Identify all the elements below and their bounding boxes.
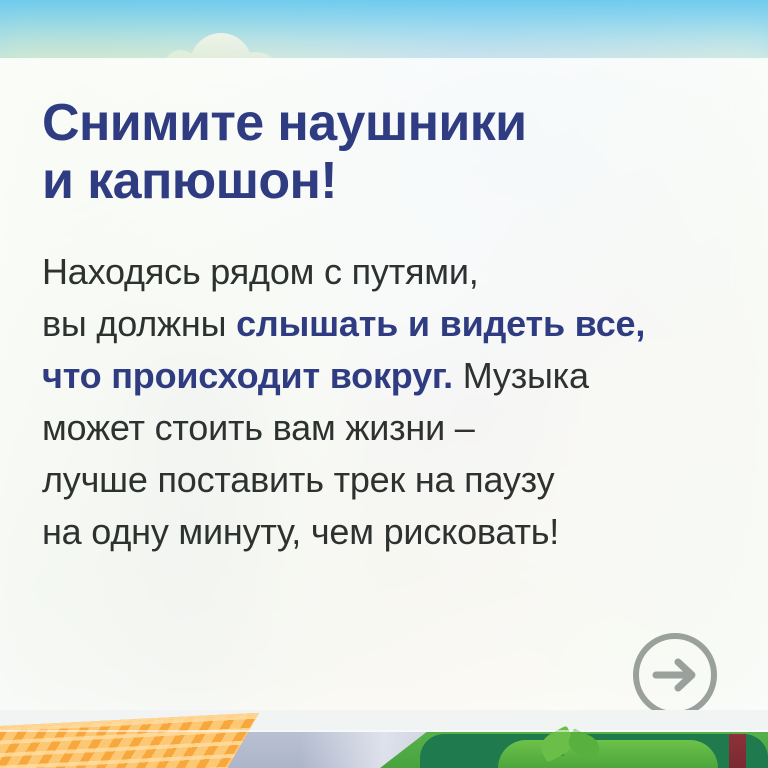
tactile-paving-ridges <box>0 715 258 768</box>
body-line-3-accent: что происходит вокруг. <box>42 355 453 396</box>
body-line-3-plain: Музыка <box>453 355 589 396</box>
body-line-3: что происходит вокруг. Музыка <box>42 350 732 402</box>
arrow-right-circle-icon <box>631 631 719 719</box>
body-paragraph: Находясь рядом с путями, вы должны слыша… <box>42 210 732 557</box>
red-post <box>729 734 746 768</box>
safety-poster-slide: Снимите наушники и капюшон! Находясь ряд… <box>0 0 768 768</box>
body-line-2-plain: вы должны <box>42 303 236 344</box>
body-line-5: лучше поставить трек на паузу <box>42 454 732 506</box>
body-line-4-text: может стоить вам жизни – <box>42 407 475 448</box>
bush-light-icon <box>498 740 718 768</box>
body-line-4: может стоить вам жизни – <box>42 402 732 454</box>
bottom-scene-strip <box>0 710 768 768</box>
body-line-6: на одну минуту, чем рисковать! <box>42 506 732 558</box>
tactile-paving-strip <box>0 713 259 768</box>
body-line-1: Находясь рядом с путями, <box>42 246 732 298</box>
body-line-2: вы должны слышать и видеть все, <box>42 298 732 350</box>
body-line-1-text: Находясь рядом с путями, <box>42 251 479 292</box>
page-title: Снимите наушники и капюшон! <box>42 58 732 210</box>
body-line-2-accent: слышать и видеть все, <box>236 303 645 344</box>
text-content-block: Снимите наушники и капюшон! Находясь ряд… <box>42 58 732 557</box>
body-line-6-text: на одну минуту, чем рисковать! <box>42 511 559 552</box>
body-line-5-text: лучше поставить трек на паузу <box>42 459 554 500</box>
next-slide-button[interactable] <box>631 631 719 719</box>
strip-separator <box>0 730 768 732</box>
